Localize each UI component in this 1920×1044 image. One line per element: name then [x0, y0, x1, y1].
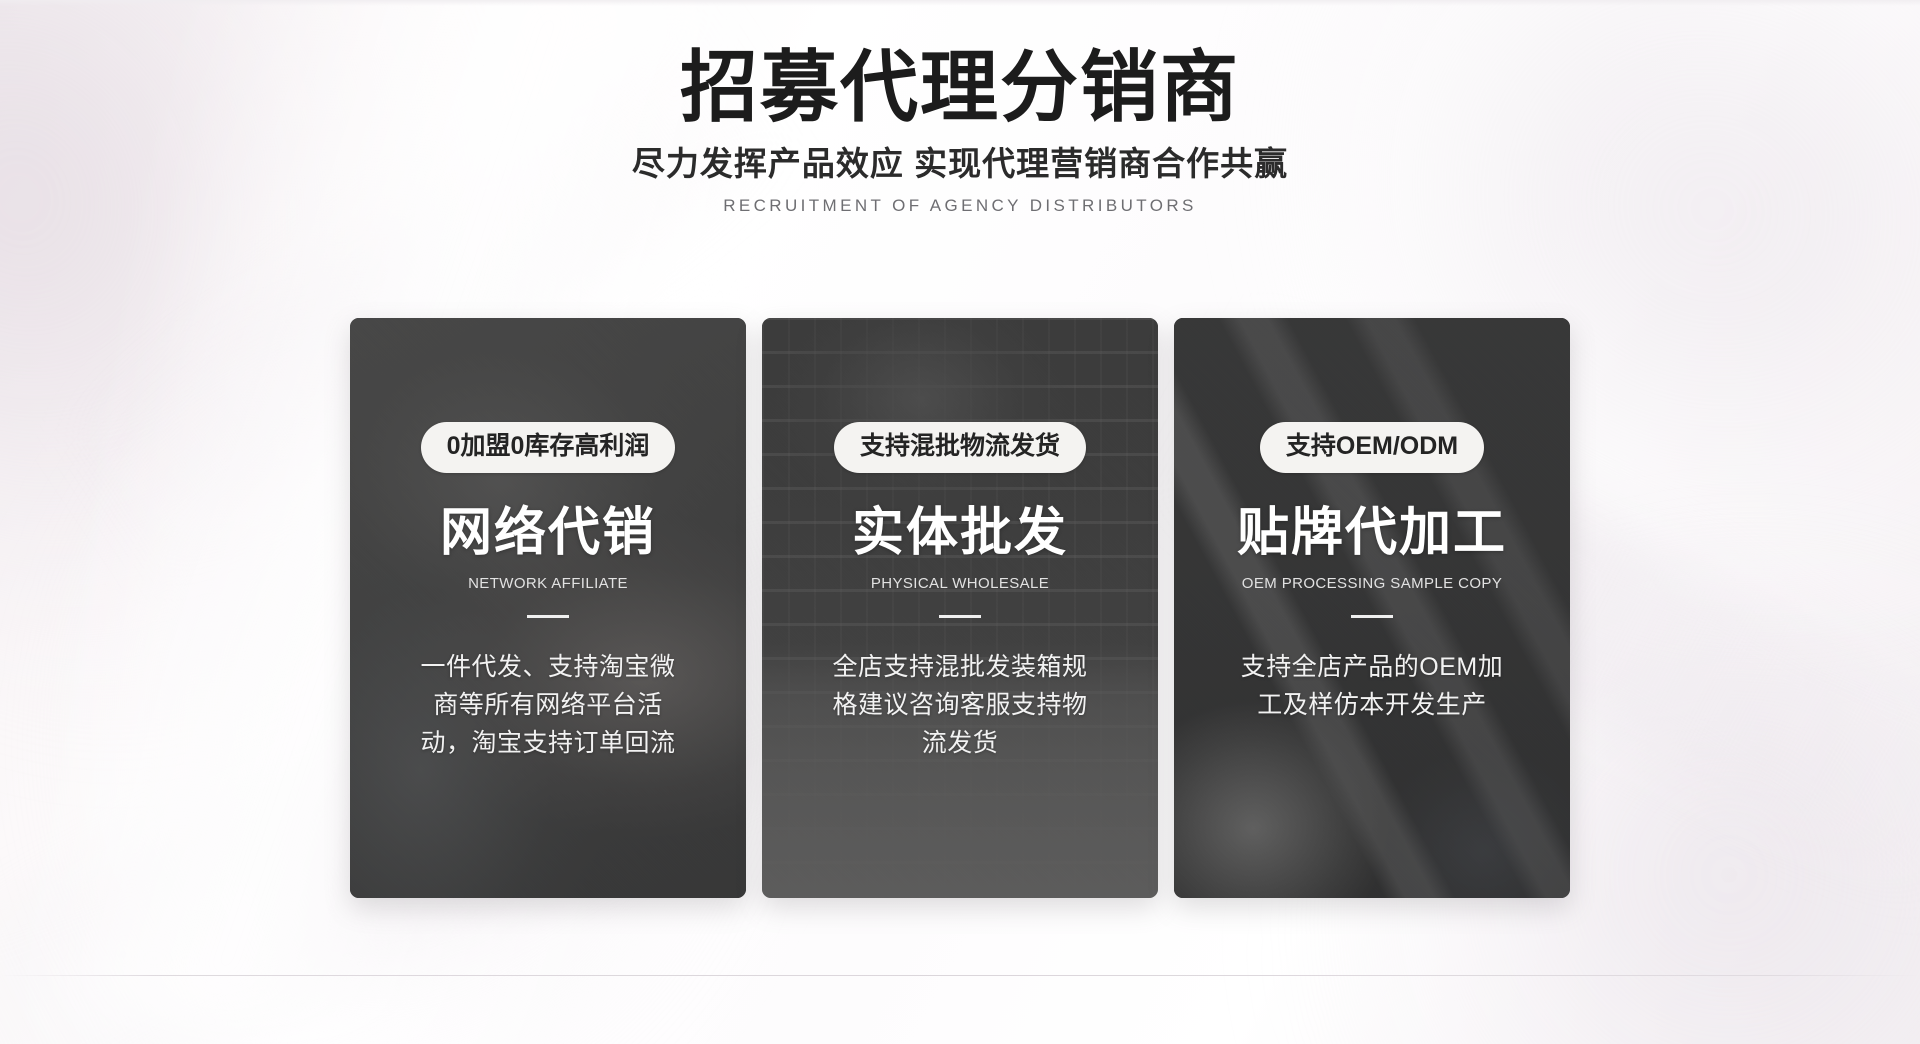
card-oem-processing[interactable]: 支持OEM/ODM 贴牌代加工 OEM PROCESSING SAMPLE CO…	[1174, 318, 1570, 898]
card-badge: 支持混批物流发货	[834, 422, 1086, 473]
bottom-divider-line	[0, 975, 1920, 976]
page-english-subtitle: RECRUITMENT OF AGENCY DISTRIBUTORS	[0, 196, 1920, 216]
card-description: 一件代发、支持淘宝微商等所有网络平台活动，淘宝支持订单回流	[414, 648, 682, 762]
card-divider	[527, 615, 569, 618]
card-title: 贴牌代加工	[1237, 507, 1507, 559]
promo-banner: 招募代理分销商 尽力发挥产品效应 实现代理营销商合作共赢 RECRUITMENT…	[0, 0, 1920, 1044]
card-network-affiliate[interactable]: 0加盟0库存高利润 网络代销 NETWORK AFFILIATE 一件代发、支持…	[350, 318, 746, 898]
card-content: 0加盟0库存高利润 网络代销 NETWORK AFFILIATE 一件代发、支持…	[350, 318, 746, 898]
card-english-label: OEM PROCESSING SAMPLE COPY	[1242, 575, 1502, 593]
card-english-label: PHYSICAL WHOLESALE	[871, 575, 1049, 593]
heading-block: 招募代理分销商 尽力发挥产品效应 实现代理营销商合作共赢 RECRUITMENT…	[0, 48, 1920, 216]
card-description: 支持全店产品的OEM加工及样仿本开发生产	[1238, 648, 1506, 724]
card-divider	[939, 615, 981, 618]
card-divider	[1351, 615, 1393, 618]
card-title: 实体批发	[852, 507, 1068, 559]
top-edge-shade	[0, 0, 1920, 6]
card-title: 网络代销	[440, 507, 656, 559]
card-badge: 支持OEM/ODM	[1260, 422, 1484, 473]
page-subtitle: 尽力发挥产品效应 实现代理营销商合作共赢	[0, 146, 1920, 182]
card-content: 支持混批物流发货 实体批发 PHYSICAL WHOLESALE 全店支持混批发…	[762, 318, 1158, 898]
card-physical-wholesale[interactable]: 支持混批物流发货 实体批发 PHYSICAL WHOLESALE 全店支持混批发…	[762, 318, 1158, 898]
card-english-label: NETWORK AFFILIATE	[468, 575, 628, 593]
card-badge: 0加盟0库存高利润	[421, 422, 676, 473]
card-description: 全店支持混批发装箱规格建议咨询客服支持物流发货	[826, 648, 1094, 762]
page-title: 招募代理分销商	[0, 48, 1920, 128]
card-content: 支持OEM/ODM 贴牌代加工 OEM PROCESSING SAMPLE CO…	[1174, 318, 1570, 898]
card-list: 0加盟0库存高利润 网络代销 NETWORK AFFILIATE 一件代发、支持…	[350, 318, 1570, 898]
